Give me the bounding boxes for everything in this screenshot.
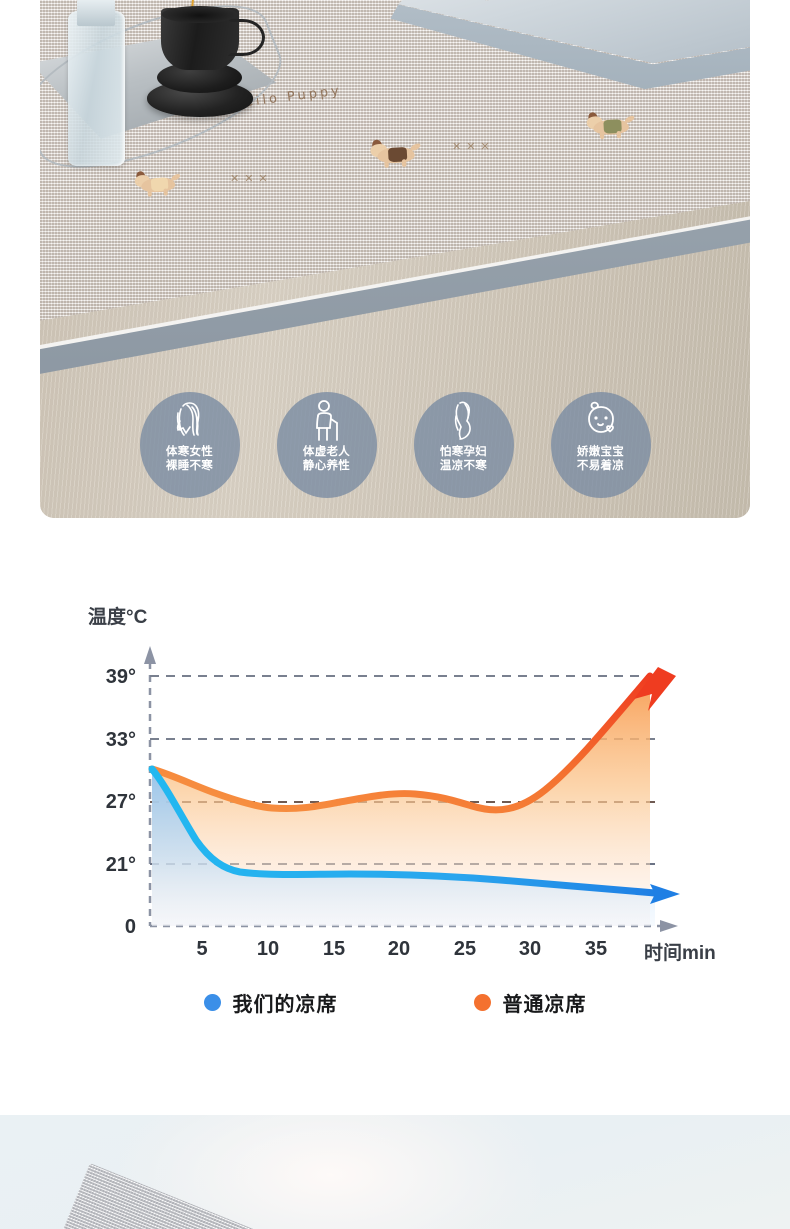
pregnant-woman-icon [441,398,487,444]
badge-label: 体寒女性 裸睡不寒 [166,446,213,473]
elderly-person-cane-icon [304,398,350,444]
chart-plot-area: 温度°C 时间min 0 21° 27° 33° 39° 5 10 15 20 … [0,518,790,978]
cup-rim [162,6,237,23]
puppy-illustration [586,110,638,140]
badge-label: 体虚老人 静心养性 [303,446,350,473]
bone-print-icon: ✕✕✕ [452,140,495,153]
badge-cold-sensitive-women: 体寒女性 裸睡不寒 [140,392,240,498]
legend-dot-orange [474,994,491,1011]
water-bottle [68,10,125,165]
legend-label: 普通凉席 [503,988,587,1017]
temperature-comparison-chart-section: 温度°C 时间min 0 21° 27° 33° 39° 5 10 15 20 … [0,518,790,1115]
chart-svg [0,518,790,978]
x-axis-arrow [660,920,678,932]
bottle-cap [77,0,115,26]
badge-delicate-babies: 娇嫩宝宝 不易着凉 [551,392,651,498]
legend-item-our-mat: 我们的凉席 [204,988,338,1017]
feature-badge-row: 体寒女性 裸睡不寒 体虚老人 静心养性 [40,392,750,502]
legend-dot-blue [204,994,221,1011]
long-hair-woman-icon [167,398,213,444]
y-axis-arrow [144,646,156,664]
legend-item-ordinary-mat: 普通凉席 [474,988,587,1017]
badge-label: 娇嫩宝宝 不易着凉 [577,446,624,473]
chart-legend: 我们的凉席 普通凉席 [0,988,790,1017]
puppy-illustration [370,137,424,168]
legend-label: 我们的凉席 [233,988,338,1017]
badge-pregnant-women: 怕寒孕妇 温凉不寒 [414,392,514,498]
bottom-product-photo [0,1115,790,1229]
badge-label: 怕寒孕妇 温凉不寒 [440,446,487,473]
badge-weak-elderly: 体虚老人 静心养性 [277,392,377,498]
baby-face-heart-icon [578,398,624,444]
